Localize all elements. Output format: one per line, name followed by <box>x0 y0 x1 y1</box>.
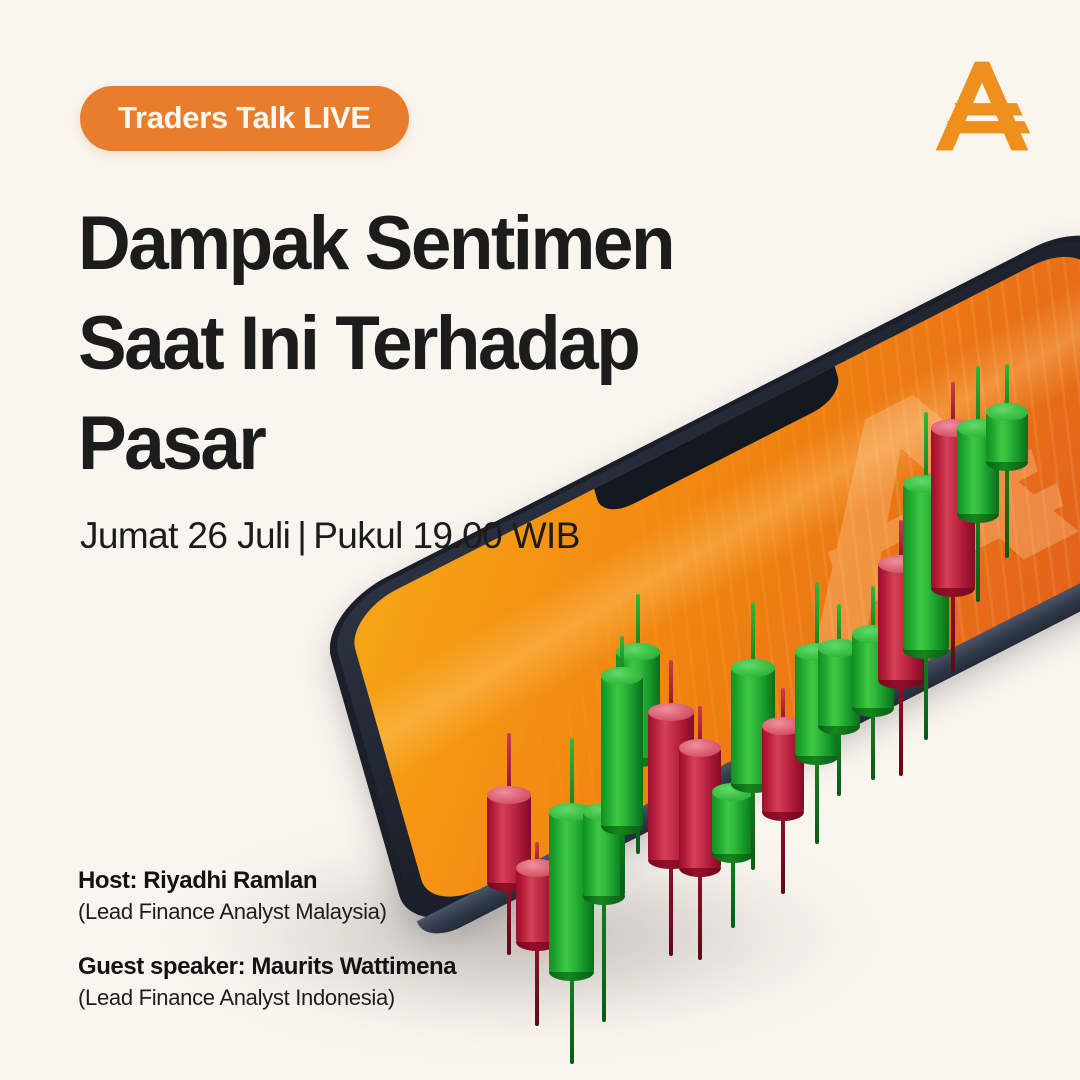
candlestick-3 <box>549 812 594 972</box>
candlestick-18 <box>957 428 999 514</box>
candlestick-lower-wick <box>698 868 702 960</box>
candlestick-8 <box>679 748 721 868</box>
candlestick-top <box>931 419 975 437</box>
schedule-date: Jumat 26 Juli <box>80 515 290 556</box>
candlestick-lower-wick <box>602 896 606 1022</box>
candlestick-base <box>731 775 775 793</box>
candlestick-body <box>986 412 1028 462</box>
candlestick-upper-wick <box>636 594 640 652</box>
candlestick-base <box>648 851 694 869</box>
candlestick-lower-wick <box>781 812 785 894</box>
candlestick-body <box>731 668 775 784</box>
candlestick-upper-wick <box>976 366 980 428</box>
candlestick-top <box>516 859 558 877</box>
phone-side-rail <box>417 531 1080 946</box>
candlestick-body <box>957 428 999 514</box>
candlestick-lower-wick <box>669 860 673 956</box>
candlestick-11 <box>762 726 804 812</box>
poster-canvas: Traders Talk LIVE Dampak Sentimen Saat I… <box>0 0 1080 1080</box>
candlestick-lower-wick <box>731 854 735 928</box>
candlestick-upper-wick <box>871 586 875 634</box>
candlestick-19 <box>986 412 1028 462</box>
headline-line-1: Dampak Sentimen <box>78 194 769 294</box>
page-title: Dampak Sentimen Saat Ini Terhadap Pasar <box>78 194 798 494</box>
candlestick-top <box>616 643 660 661</box>
candlestick-lower-wick <box>535 942 539 1026</box>
candlestick-lower-wick <box>815 756 819 844</box>
brand-a-logo-icon <box>930 56 1034 156</box>
credit-host-name: Host: Riyadhi Ramlan <box>78 866 456 897</box>
candlestick-lower-wick <box>1005 462 1009 558</box>
candlestick-body <box>648 712 694 860</box>
candlestick-top <box>852 625 894 643</box>
candlestick-upper-wick <box>951 382 955 428</box>
candlestick-17 <box>931 428 975 588</box>
candlestick-base <box>903 641 949 659</box>
candlestick-15 <box>878 564 924 680</box>
candlestick-9 <box>712 792 754 854</box>
candlestick-lower-wick <box>899 680 903 776</box>
candlestick-body <box>679 748 721 868</box>
candlestick-base <box>986 453 1028 471</box>
candlestick-10 <box>731 668 775 784</box>
candlestick-7 <box>648 712 694 860</box>
candlestick-top <box>903 475 949 493</box>
candlestick-2 <box>516 868 558 942</box>
candlestick-body <box>616 652 660 758</box>
candlestick-top <box>583 803 625 821</box>
candlestick-top <box>648 703 694 721</box>
credit-host-role: (Lead Finance Analyst Malaysia) <box>78 897 456 927</box>
live-badge[interactable]: Traders Talk LIVE <box>80 86 409 151</box>
candlestick-top <box>986 403 1028 421</box>
candlestick-base <box>957 505 999 523</box>
candlestick-lower-wick <box>976 514 980 602</box>
candlestick-body <box>818 648 860 726</box>
candlestick-top <box>957 419 999 437</box>
candlestick-body <box>852 634 894 708</box>
candlestick-upper-wick <box>781 688 785 726</box>
candlestick-5 <box>616 652 660 758</box>
candlestick-upper-wick <box>698 706 702 748</box>
candlestick-upper-wick <box>837 604 841 648</box>
phone-side-button-icon <box>545 829 626 878</box>
candlestick-top <box>818 639 860 657</box>
candlestick-base <box>516 933 558 951</box>
candlestick-top <box>712 783 754 801</box>
candlestick-body <box>712 792 754 854</box>
candlestick-16 <box>903 484 949 650</box>
candlestick-lower-wick <box>837 726 841 796</box>
candlestick-base <box>762 803 804 821</box>
candlestick-upper-wick <box>899 520 903 564</box>
candlestick-base <box>818 717 860 735</box>
candlestick-body <box>762 726 804 812</box>
candlestick-upper-wick <box>620 636 624 676</box>
candlestick-top <box>878 555 924 573</box>
schedule-time: Pukul 19.00 WIB <box>313 515 580 556</box>
credit-guest-name: Guest speaker: Maurits Wattimena <box>78 952 456 983</box>
candlestick-lower-wick <box>751 784 755 870</box>
candlestick-14 <box>852 634 894 708</box>
credit-guest-role: (Lead Finance Analyst Indonesia) <box>78 983 456 1013</box>
candlestick-base <box>852 699 894 717</box>
candlestick-body <box>878 564 924 680</box>
candlestick-upper-wick <box>815 582 819 652</box>
candlestick-upper-wick <box>602 740 606 812</box>
candlestick-body <box>903 484 949 650</box>
candlestick-upper-wick <box>924 412 928 484</box>
speaker-credits: Host: Riyadhi Ramlan (Lead Finance Analy… <box>78 866 456 1013</box>
candlestick-top <box>601 667 643 685</box>
candlestick-base <box>795 747 839 765</box>
schedule-separator: | <box>290 515 313 556</box>
candlestick-upper-wick <box>1005 364 1009 412</box>
candlestick-body <box>583 812 625 896</box>
candlestick-top <box>487 786 531 804</box>
candlestick-base <box>679 859 721 877</box>
candlestick-base <box>931 579 975 597</box>
candlestick-top <box>731 659 775 677</box>
candlestick-base <box>616 749 660 767</box>
credit-host: Host: Riyadhi Ramlan (Lead Finance Analy… <box>78 866 456 926</box>
candlestick-top <box>762 717 804 735</box>
headline-line-3: Pasar <box>78 394 769 494</box>
candlestick-upper-wick <box>507 733 511 795</box>
candlestick-base <box>549 963 594 981</box>
candlestick-6 <box>601 676 643 826</box>
schedule-line: Jumat 26 Juli|Pukul 19.00 WIB <box>80 515 580 557</box>
candlestick-upper-wick <box>535 842 539 868</box>
candlestick-lower-wick <box>636 758 640 854</box>
candlestick-base <box>583 887 625 905</box>
live-badge-label: Traders Talk LIVE <box>118 102 371 133</box>
credit-guest: Guest speaker: Maurits Wattimena (Lead F… <box>78 952 456 1012</box>
candlestick-base <box>712 845 754 863</box>
candlestick-body <box>487 795 531 883</box>
candlestick-13 <box>818 648 860 726</box>
candlestick-12 <box>795 652 839 756</box>
candlestick-lower-wick <box>620 826 624 896</box>
candlestick-base <box>878 671 924 689</box>
candlestick-base <box>601 817 643 835</box>
candlestick-lower-wick <box>924 650 928 740</box>
candlestick-upper-wick <box>669 660 673 712</box>
candlestick-lower-wick <box>570 972 574 1064</box>
candlestick-top <box>679 739 721 757</box>
candlestick-1 <box>487 795 531 883</box>
candlestick-body <box>516 868 558 942</box>
headline-line-2: Saat Ini Terhadap <box>78 294 769 394</box>
candlestick-body <box>601 676 643 826</box>
candlestick-body <box>931 428 975 588</box>
candlestick-top <box>795 643 839 661</box>
candlestick-upper-wick <box>751 602 755 668</box>
candlestick-top <box>549 803 594 821</box>
candlestick-lower-wick <box>951 588 955 672</box>
candlestick-lower-wick <box>871 708 875 780</box>
candlestick-body <box>549 812 594 972</box>
candlestick-body <box>795 652 839 756</box>
candlestick-lower-wick <box>507 883 511 955</box>
candlestick-base <box>487 874 531 892</box>
candlestick-upper-wick <box>731 736 735 792</box>
candlestick-4 <box>583 812 625 896</box>
candlestick-upper-wick <box>570 738 574 812</box>
